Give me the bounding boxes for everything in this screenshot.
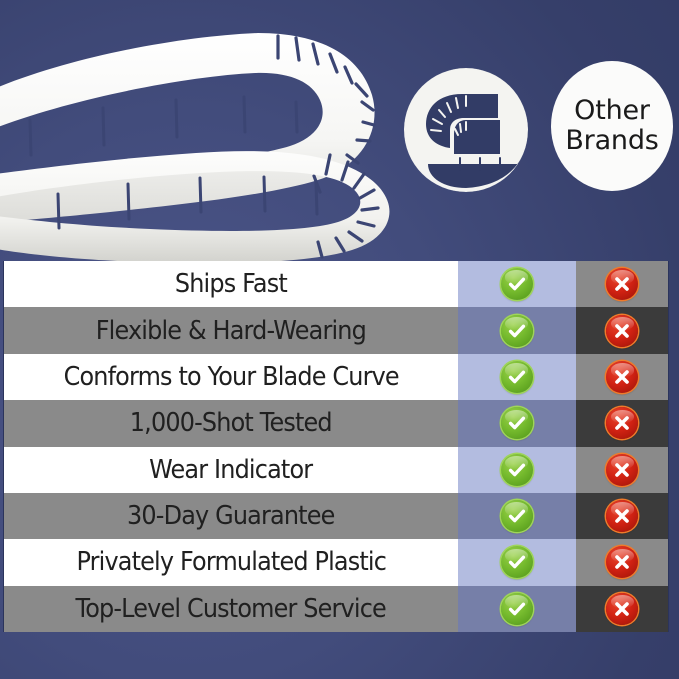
- product-closeup-inset: [404, 68, 528, 192]
- table-row: Privately Formulated Plastic: [4, 539, 668, 585]
- feature-label: Flexible & Hard-Wearing: [96, 316, 366, 346]
- comparison-infographic: Other Brands Ships FastFlexible & Hard-W…: [0, 0, 679, 679]
- other-brands-cell: [576, 539, 668, 585]
- cross-icon: [606, 593, 638, 625]
- other-brands-line-2: Brands: [565, 126, 658, 156]
- ours-cell: [458, 586, 577, 632]
- check-icon: [501, 361, 533, 393]
- cross-icon: [606, 454, 638, 486]
- feature-label: Ships Fast: [175, 269, 287, 299]
- feature-label: 1,000-Shot Tested: [130, 408, 332, 438]
- other-brands-cell: [576, 493, 668, 539]
- feature-cell: Privately Formulated Plastic: [4, 539, 458, 585]
- other-brands-cell: [576, 400, 668, 446]
- ours-cell: [458, 539, 577, 585]
- cross-icon: [606, 268, 638, 300]
- check-icon: [501, 407, 533, 439]
- check-icon: [501, 546, 533, 578]
- feature-label: Conforms to Your Blade Curve: [63, 362, 398, 392]
- ours-cell: [458, 447, 577, 493]
- table-row: 1,000-Shot Tested: [4, 400, 668, 446]
- feature-label: Privately Formulated Plastic: [76, 547, 386, 577]
- feature-cell: Top-Level Customer Service: [4, 586, 458, 632]
- table-row: 30-Day Guarantee: [4, 493, 668, 539]
- other-brands-cell: [576, 447, 668, 493]
- ours-cell: [458, 493, 577, 539]
- other-brands-cell: [576, 586, 668, 632]
- cross-icon: [606, 500, 638, 532]
- feature-label: Wear Indicator: [149, 455, 312, 485]
- other-brands-label: Other Brands: [551, 61, 673, 191]
- check-icon: [501, 593, 533, 625]
- hero-section: Other Brands: [0, 0, 679, 261]
- check-icon: [501, 454, 533, 486]
- table-row: Top-Level Customer Service: [4, 586, 668, 632]
- other-brands-cell: [576, 354, 668, 400]
- feature-cell: Conforms to Your Blade Curve: [4, 354, 458, 400]
- other-brands-cell: [576, 307, 668, 353]
- ours-cell: [458, 400, 577, 446]
- check-icon: [501, 315, 533, 347]
- feature-comparison-table: Ships FastFlexible & Hard-WearingConform…: [3, 261, 669, 632]
- feature-cell: Wear Indicator: [4, 447, 458, 493]
- ours-cell: [458, 261, 577, 307]
- cross-icon: [606, 361, 638, 393]
- feature-cell: Ships Fast: [4, 261, 458, 307]
- other-brands-line-1: Other: [574, 96, 650, 126]
- feature-cell: 30-Day Guarantee: [4, 493, 458, 539]
- check-icon: [501, 268, 533, 300]
- feature-label: Top-Level Customer Service: [76, 594, 386, 624]
- cross-icon: [606, 315, 638, 347]
- other-brands-cell: [576, 261, 668, 307]
- table-row: Wear Indicator: [4, 447, 668, 493]
- table-row: Ships Fast: [4, 261, 668, 307]
- check-icon: [501, 500, 533, 532]
- cross-icon: [606, 407, 638, 439]
- ours-cell: [458, 354, 577, 400]
- table-row: Conforms to Your Blade Curve: [4, 354, 668, 400]
- ours-cell: [458, 307, 577, 353]
- feature-cell: 1,000-Shot Tested: [4, 400, 458, 446]
- feature-cell: Flexible & Hard-Wearing: [4, 307, 458, 353]
- cross-icon: [606, 546, 638, 578]
- table-row: Flexible & Hard-Wearing: [4, 307, 668, 353]
- feature-label: 30-Day Guarantee: [127, 501, 334, 531]
- inset-product-illustration: [404, 68, 528, 192]
